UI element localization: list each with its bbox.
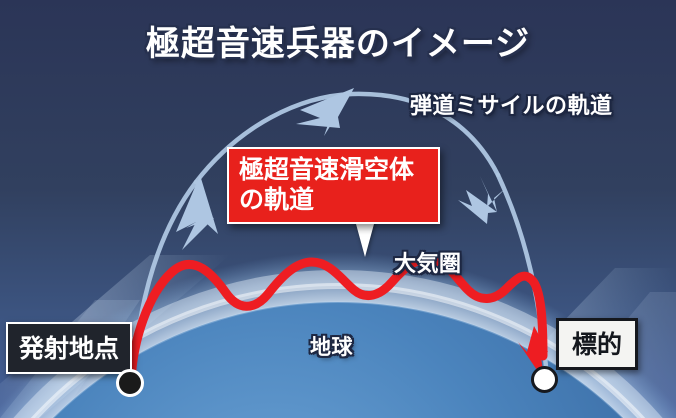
label-box-target: 標的 xyxy=(556,318,638,370)
callout-line-1: 極超音速滑空体 xyxy=(239,155,428,185)
callout-hypersonic-glide: 極超音速滑空体 の軌道 xyxy=(227,147,440,224)
label-box-launch-site: 発射地点 xyxy=(6,322,132,374)
label-ballistic-trajectory: 弾道ミサイルの軌道 xyxy=(410,88,613,120)
page-title: 極超音速兵器のイメージ xyxy=(0,16,676,65)
label-target: 標的 xyxy=(572,330,622,359)
infographic-canvas: 極超音速兵器のイメージ 弾道ミサイルの軌道 大気圏 地球 極超音速滑空体 の軌道… xyxy=(0,0,676,418)
label-launch-site: 発射地点 xyxy=(19,334,119,363)
label-earth: 地球 xyxy=(310,331,353,361)
marker-launch-point xyxy=(116,369,144,397)
marker-target-point xyxy=(531,366,558,393)
label-atmosphere: 大気圏 xyxy=(394,246,462,278)
callout-line-2: の軌道 xyxy=(239,185,428,215)
